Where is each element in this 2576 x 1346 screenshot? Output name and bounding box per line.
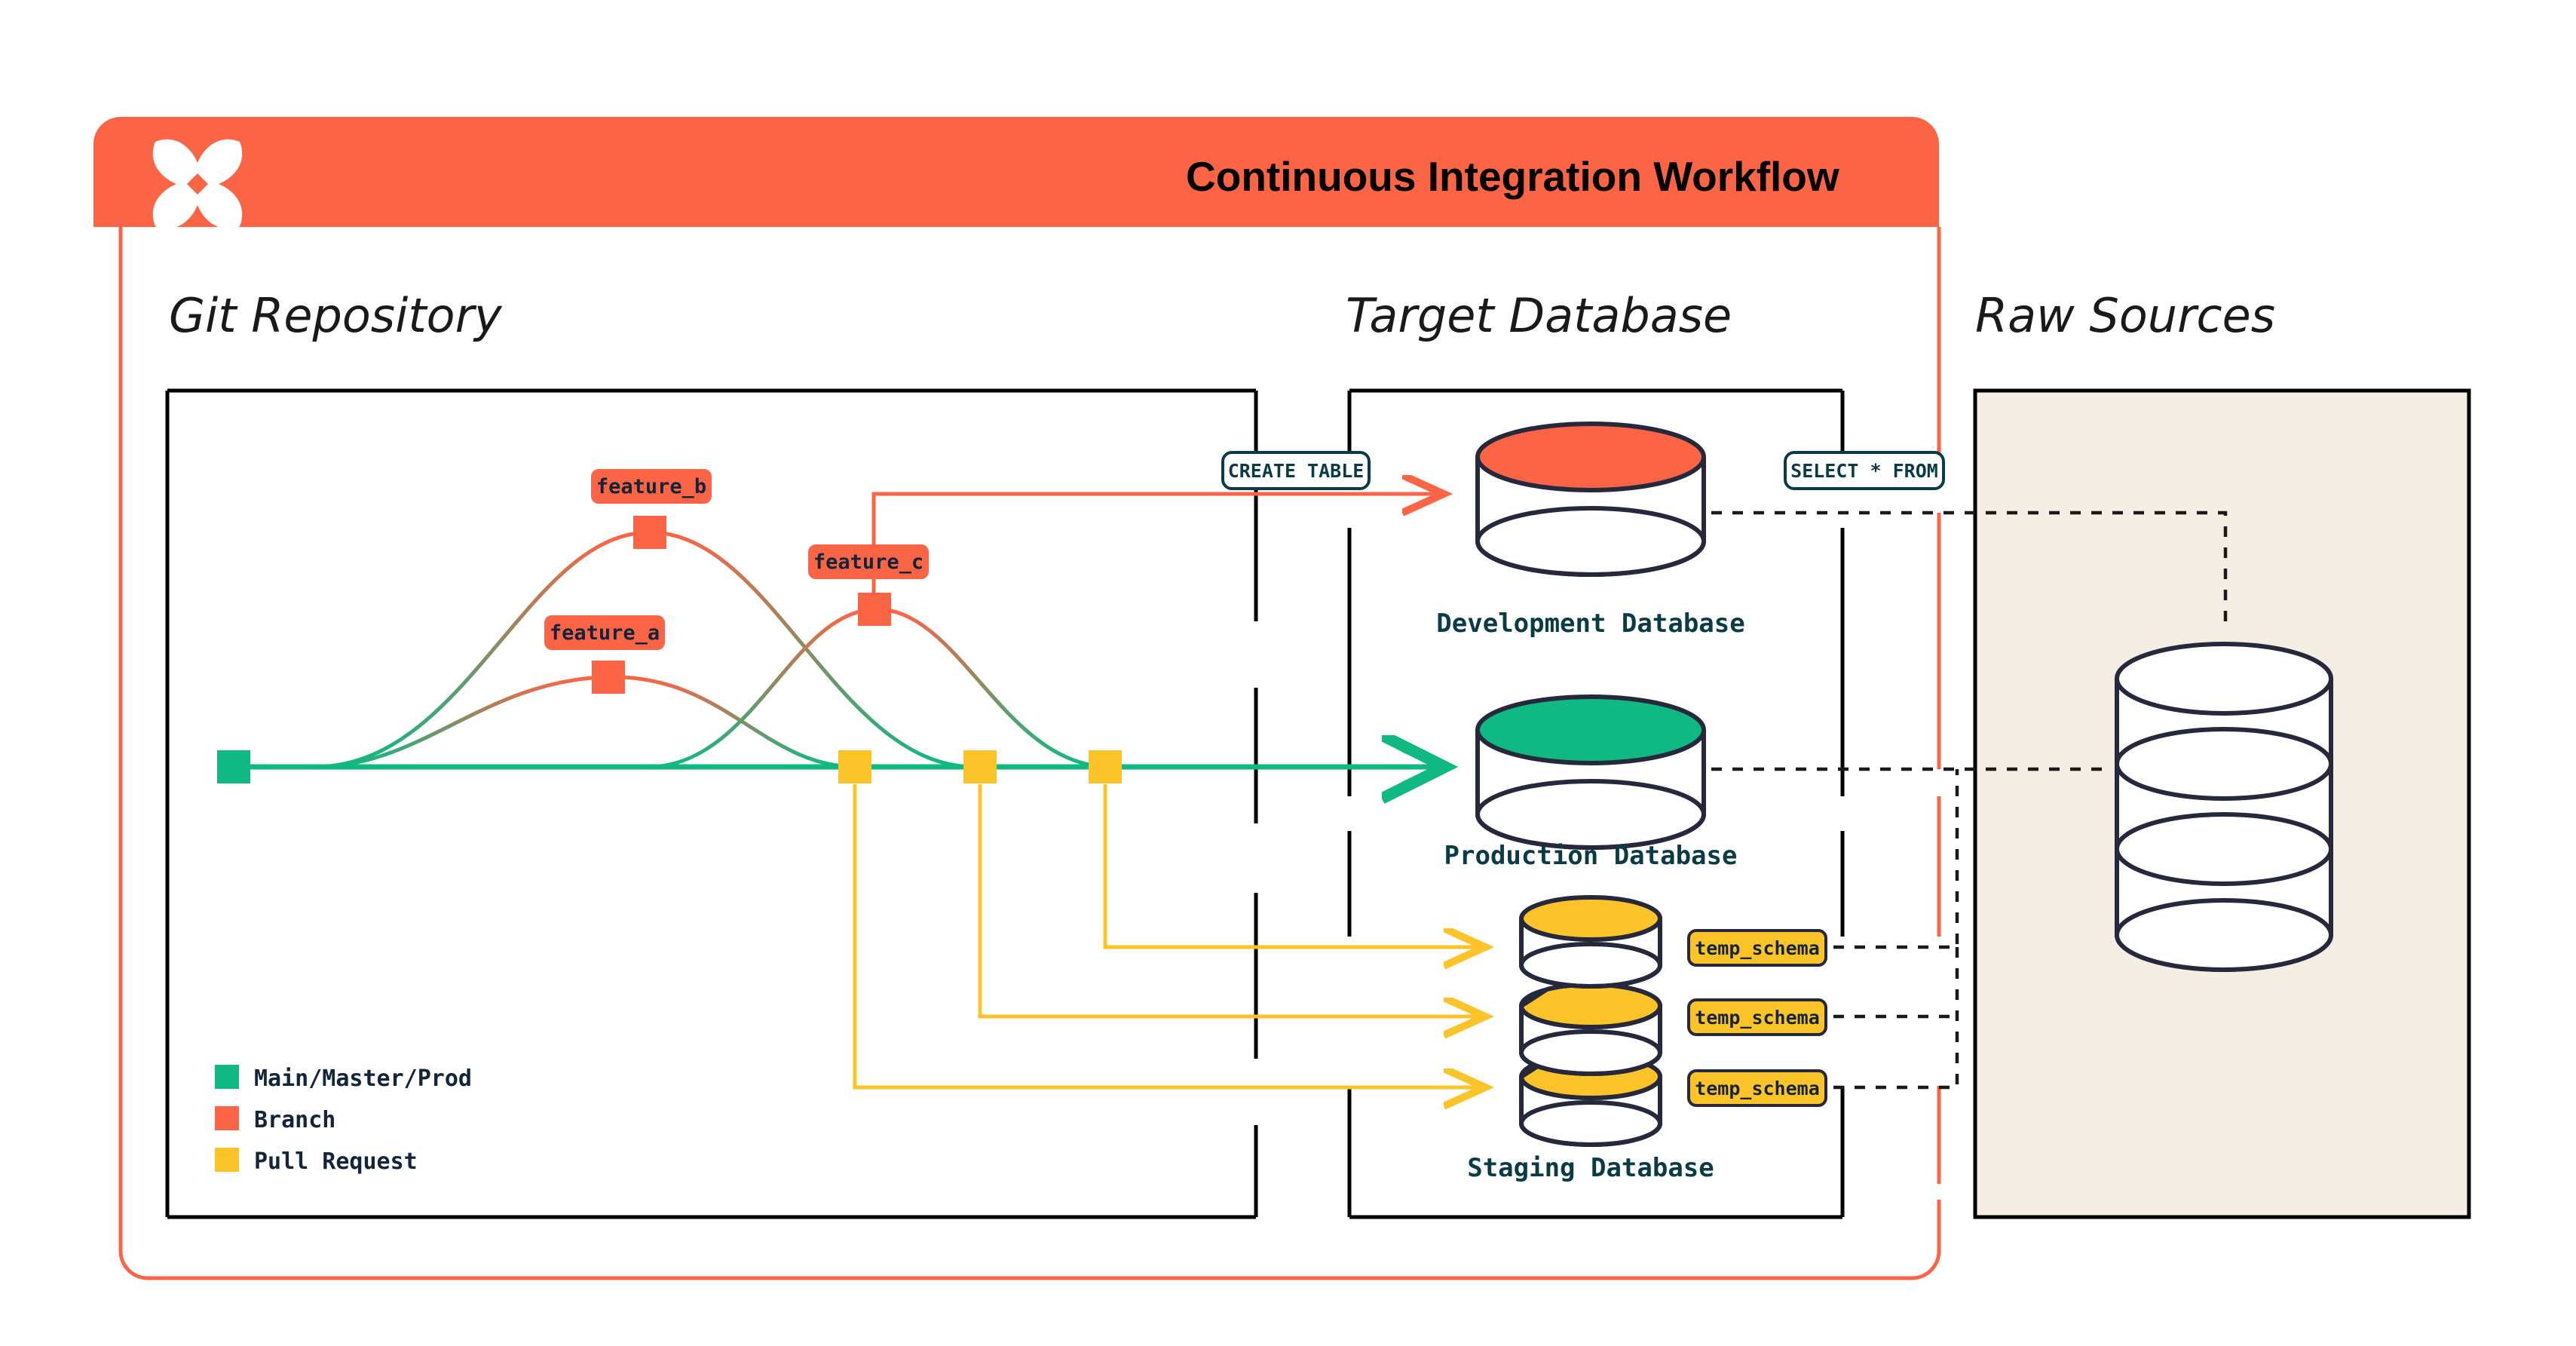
svg-text:CREATE TABLE: CREATE TABLE: [1228, 460, 1365, 482]
branch-label-feature-c[interactable]: feature_c: [808, 544, 929, 579]
db-label-production: Production Database: [1444, 841, 1738, 871]
legend-swatch-pull-request: [215, 1148, 239, 1172]
label-layer: Continuous Integration Workflow Git Repo…: [0, 0, 2576, 1346]
legend-item-branch[interactable]: Branch: [215, 1106, 335, 1133]
db-label-staging: Staging Database: [1467, 1153, 1714, 1183]
svg-text:feature_b: feature_b: [596, 475, 706, 498]
svg-text:SELECT * FROM: SELECT * FROM: [1790, 460, 1938, 482]
svg-text:Main/Master/Prod: Main/Master/Prod: [254, 1065, 472, 1092]
svg-text:temp_schema: temp_schema: [1695, 937, 1820, 959]
svg-text:feature_a: feature_a: [550, 621, 660, 645]
legend: Main/Master/Prod Branch Pull Request: [215, 1065, 472, 1175]
section-title-git-repository: Git Repository: [169, 288, 503, 343]
svg-text:temp_schema: temp_schema: [1695, 1078, 1820, 1099]
branch-label-feature-b[interactable]: feature_b: [591, 469, 712, 504]
page-title: Continuous Integration Workflow: [1186, 153, 1839, 200]
schema-tag-1[interactable]: temp_schema: [1689, 931, 1826, 965]
svg-text:temp_schema: temp_schema: [1695, 1007, 1820, 1029]
svg-text:Pull Request: Pull Request: [254, 1148, 418, 1175]
section-title-raw-sources: Raw Sources: [1975, 288, 2275, 343]
diagram-canvas: Continuous Integration Workflow Git Repo…: [0, 0, 2576, 1346]
db-label-development: Development Database: [1436, 609, 1744, 639]
svg-text:feature_c: feature_c: [813, 550, 924, 574]
butterfly-x-logo: [153, 140, 243, 229]
legend-item-pull-request[interactable]: Pull Request: [215, 1148, 418, 1175]
branch-label-feature-a[interactable]: feature_a: [544, 615, 665, 650]
legend-swatch-branch: [215, 1106, 239, 1130]
sql-badge-select-star-from[interactable]: SELECT * FROM: [1785, 452, 1943, 489]
schema-tag-3[interactable]: temp_schema: [1689, 1071, 1826, 1105]
section-title-target-database: Target Database: [1346, 288, 1732, 343]
schema-tag-2[interactable]: temp_schema: [1689, 1000, 1826, 1035]
sql-badge-create-table[interactable]: CREATE TABLE: [1223, 452, 1369, 489]
svg-text:Branch: Branch: [254, 1107, 335, 1133]
legend-item-main[interactable]: Main/Master/Prod: [215, 1065, 472, 1092]
legend-swatch-main: [215, 1065, 239, 1089]
